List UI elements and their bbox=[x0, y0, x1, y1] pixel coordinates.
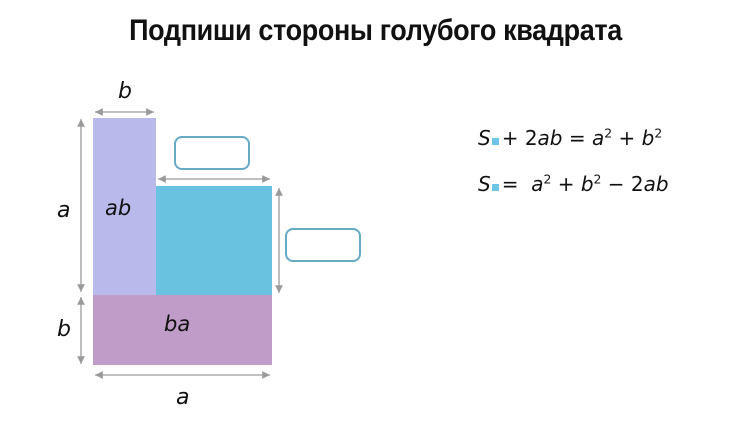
answer-box-right bbox=[286, 229, 360, 261]
formula2-term-a: a bbox=[531, 172, 543, 196]
formula-term-b: b bbox=[642, 126, 655, 150]
formula2-term-ab: ab bbox=[644, 172, 669, 196]
formula2-equals: = bbox=[502, 172, 519, 196]
formula2-minus: − bbox=[608, 172, 625, 196]
formula-block: S+ 2ab = a2 + b2 S= a2 + b2 − 2ab bbox=[478, 128, 744, 194]
blue-square-subscript-icon bbox=[492, 138, 499, 145]
dimension-label-b-top: b bbox=[118, 79, 132, 104]
formula-line-2: S= a2 + b2 − 2ab bbox=[478, 174, 744, 194]
formula2-plus: + bbox=[558, 172, 575, 196]
formula2-exponent-a: 2 bbox=[543, 171, 551, 186]
formula2-exponent-b: 2 bbox=[594, 171, 602, 186]
formula-exponent-a: 2 bbox=[604, 125, 612, 140]
formula2-coefficient-two: 2 bbox=[631, 172, 644, 196]
formula-term-ab: ab bbox=[538, 126, 563, 150]
formula-term-a: a bbox=[592, 126, 604, 150]
shape-label-ab: ab bbox=[105, 196, 131, 220]
dimension-label-a-bottom: a bbox=[176, 385, 189, 410]
square-decomposition-diagram: ab ba b a b a bbox=[0, 0, 460, 422]
blue-square-subscript-icon bbox=[492, 184, 499, 191]
formula-equals: = bbox=[569, 126, 586, 150]
dimension-label-b-left: b bbox=[57, 317, 71, 342]
formula-exponent-b: 2 bbox=[654, 125, 662, 140]
answer-box-top bbox=[175, 137, 249, 169]
shape-label-ba: ba bbox=[164, 312, 190, 336]
dimension-label-a-left: a bbox=[57, 198, 70, 223]
formula-operator-plus-two: + 2 bbox=[502, 126, 538, 150]
cyan-square bbox=[156, 186, 272, 295]
formula-line-1: S+ 2ab = a2 + b2 bbox=[478, 128, 744, 148]
formula-plus: + bbox=[619, 126, 636, 150]
formula2-term-b: b bbox=[581, 172, 594, 196]
formula-S-symbol: S bbox=[478, 126, 491, 150]
formula2-S-symbol: S bbox=[478, 172, 491, 196]
